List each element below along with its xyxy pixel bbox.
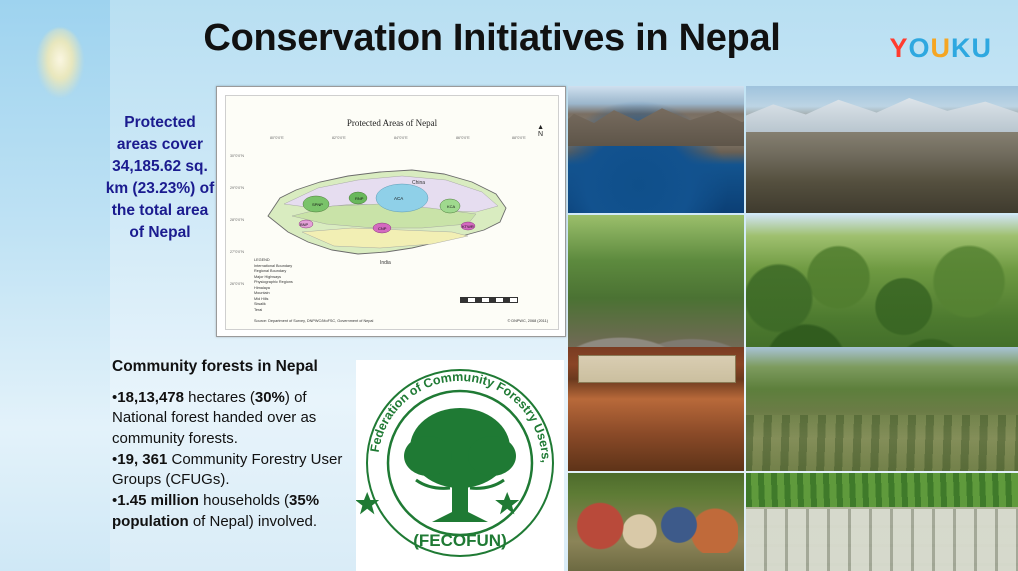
map-lon-label-1: 80°0'0"E bbox=[270, 136, 284, 140]
youku-watermark: YOUKU bbox=[889, 33, 992, 64]
youku-letter-u2: U bbox=[972, 33, 993, 63]
map-lat-label-5: 26°0'0"N bbox=[230, 282, 244, 286]
photo-grid bbox=[568, 86, 1018, 571]
bullet-3-bold-1: 1.45 million bbox=[117, 492, 199, 509]
field-workers-photo bbox=[746, 347, 1018, 471]
legend-col2-item-5: Terai bbox=[254, 308, 293, 314]
youku-letter-k: K bbox=[951, 33, 972, 63]
map-title: Protected Areas of Nepal bbox=[226, 118, 558, 128]
map-lat-label-3: 28°0'0"N bbox=[230, 218, 244, 222]
bullet-1-text-1: hectares ( bbox=[184, 389, 255, 406]
page-title: Conservation Initiatives in Nepal bbox=[112, 18, 872, 60]
map-scale-bar bbox=[460, 297, 518, 303]
svg-text:RNP: RNP bbox=[355, 196, 364, 201]
community-forests-bullets: •18,13,478 hectares (30%) of National fo… bbox=[112, 388, 358, 533]
svg-text:India: India bbox=[380, 260, 391, 266]
map-lon-label-2: 82°0'0"E bbox=[332, 136, 346, 140]
mountain-lake-photo bbox=[568, 86, 744, 213]
svg-text:China: China bbox=[412, 180, 425, 186]
map-lat-label-2: 29°0'0"N bbox=[230, 186, 244, 190]
svg-text:KTWR: KTWR bbox=[462, 224, 474, 229]
light-glow-decoration bbox=[36, 28, 84, 98]
svg-text:BNP: BNP bbox=[300, 222, 309, 227]
village-gathering-photo bbox=[568, 473, 744, 571]
bullet-3-text-1: households ( bbox=[199, 492, 289, 509]
bullet-item-1: •18,13,478 hectares (30%) of National fo… bbox=[112, 388, 358, 449]
svg-text:SPNP: SPNP bbox=[312, 202, 323, 207]
fecofun-bottom-text: (FECOFUN) bbox=[413, 531, 506, 550]
bullet-1-bold-2: 30% bbox=[255, 389, 285, 406]
map-lat-label-4: 27°0'0"N bbox=[230, 250, 244, 254]
bullet-item-3: •1.45 million households (35% population… bbox=[112, 491, 358, 532]
community-meeting-photo bbox=[568, 347, 744, 471]
bullet-item-2: •19, 361 Community Forestry User Groups … bbox=[112, 450, 358, 491]
map-legend: LEGEND International Boundary Regional B… bbox=[254, 258, 293, 313]
svg-text:CNP: CNP bbox=[378, 226, 387, 231]
svg-text:ACA: ACA bbox=[394, 196, 403, 201]
seedling-row bbox=[746, 473, 1018, 507]
fecofun-logo: Federation of Community Forestry Users, … bbox=[356, 360, 564, 571]
protected-areas-text: Protected areas cover 34,185.62 sq. km (… bbox=[104, 112, 216, 244]
map-lon-label-4: 86°0'0"E bbox=[456, 136, 470, 140]
compass-icon: ▲N bbox=[537, 124, 544, 138]
bullet-3-text-2: of Nepal) involved. bbox=[189, 513, 317, 530]
presentation-slide: Conservation Initiatives in Nepal YOUKU … bbox=[0, 0, 1018, 571]
bullet-1-bold-1: 18,13,478 bbox=[117, 389, 184, 406]
himalayan-ridge-photo bbox=[746, 86, 1018, 213]
legend-col2-title: Physiographic Regions bbox=[254, 280, 293, 286]
map-credit-note: © DNPWC, 2068 (2011) bbox=[508, 319, 549, 323]
map-source-note: Source: Department of Survey, DNPWC/MoFS… bbox=[254, 319, 373, 323]
youku-letter-y: Y bbox=[889, 33, 908, 63]
nepal-country-map: SPNP RNP ACA KCA CNP KTWR BNP China Indi… bbox=[262, 154, 512, 274]
map-lon-label-3: 84°0'0"E bbox=[394, 136, 408, 140]
bullet-2-bold-1: 19, 361 bbox=[117, 451, 167, 468]
svg-text:KCA: KCA bbox=[447, 204, 456, 209]
plant-nursery-photo bbox=[746, 473, 1018, 571]
youku-letter-o: O bbox=[908, 33, 930, 63]
map-canvas: Protected Areas of Nepal 30°0'0"N 29°0'0… bbox=[225, 95, 559, 330]
map-lon-label-5: 88°0'0"E bbox=[512, 136, 526, 140]
community-forests-heading: Community forests in Nepal bbox=[112, 358, 362, 376]
youku-letter-u: U bbox=[931, 33, 952, 63]
compass-north-label: N bbox=[538, 131, 543, 138]
map-lat-label-1: 30°0'0"N bbox=[230, 154, 244, 158]
protected-areas-map-panel: Protected Areas of Nepal 30°0'0"N 29°0'0… bbox=[216, 86, 566, 337]
